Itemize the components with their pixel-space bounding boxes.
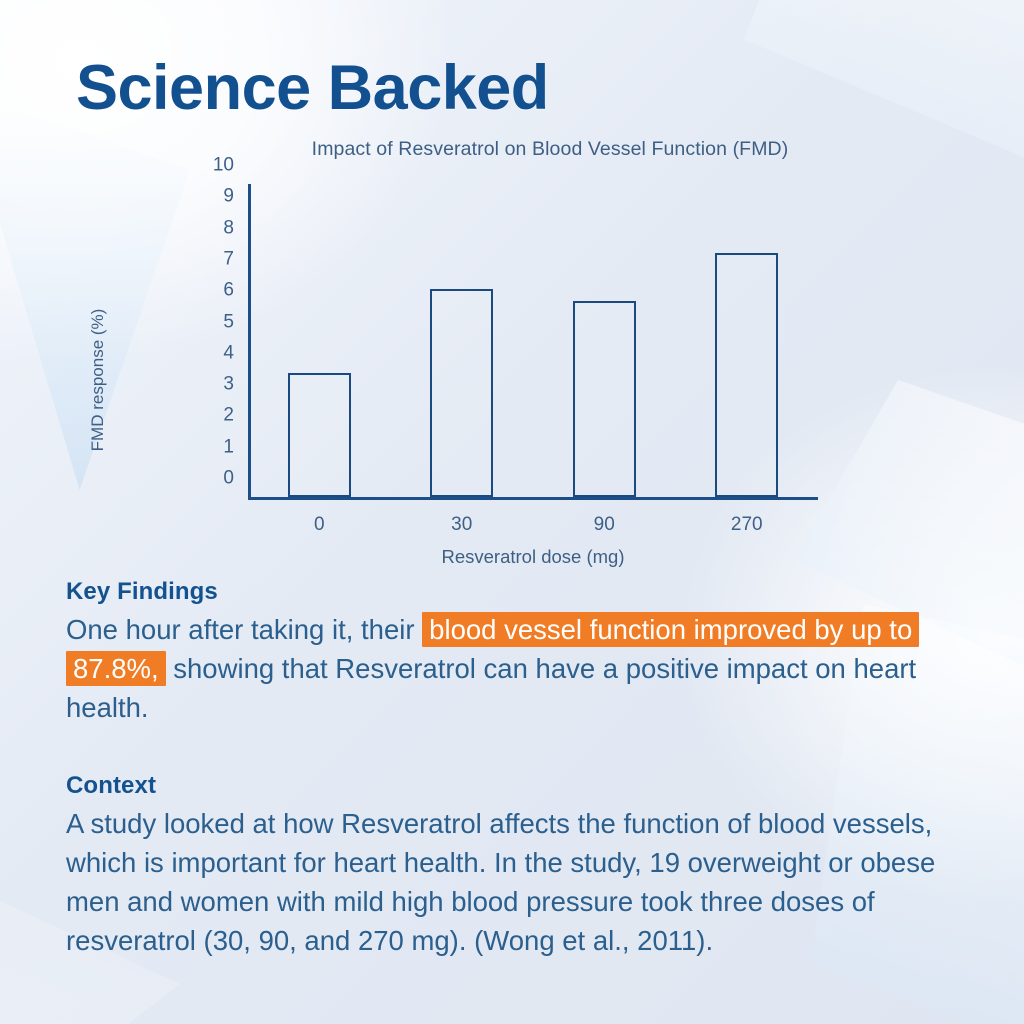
key-findings-heading: Key Findings — [66, 578, 996, 606]
chart-y-tick: 8 — [223, 218, 234, 237]
chart-title: Impact of Resveratrol on Blood Vessel Fu… — [250, 138, 850, 161]
chart-y-tick: 4 — [223, 343, 234, 362]
bar-chart: Impact of Resveratrol on Blood Vessel Fu… — [0, 138, 1024, 578]
chart-bar — [573, 301, 636, 497]
chart-y-tick: 5 — [223, 312, 234, 331]
chart-plot-area: 10987654321003090270 — [248, 184, 818, 500]
chart-x-tick: 270 — [731, 514, 763, 536]
chart-x-tick: 0 — [314, 514, 325, 536]
page-title: Science Backed — [76, 52, 549, 124]
key-findings-body: One hour after taking it, their blood ve… — [66, 610, 996, 727]
chart-x-axis-label: Resveratrol dose (mg) — [248, 546, 818, 568]
chart-y-tick: 0 — [223, 469, 234, 488]
chart-bar — [288, 373, 351, 497]
chart-y-tick: 6 — [223, 281, 234, 300]
poster-canvas: Science Backed Impact of Resveratrol on … — [0, 0, 1024, 1024]
chart-bar — [715, 253, 778, 497]
key-findings-text-before: One hour after taking it, their — [66, 614, 422, 645]
key-findings-text-after: showing that Resveratrol can have a posi… — [66, 653, 916, 723]
chart-y-axis-label: FMD response (%) — [88, 270, 108, 490]
chart-x-axis — [248, 497, 818, 500]
chart-y-tick: 7 — [223, 249, 234, 268]
chart-y-tick: 3 — [223, 375, 234, 394]
chart-x-tick: 30 — [451, 514, 472, 536]
key-findings-section: Key Findings One hour after taking it, t… — [66, 578, 996, 727]
chart-bar — [430, 289, 493, 497]
chart-y-tick: 10 — [213, 156, 234, 175]
chart-y-tick: 1 — [223, 437, 234, 456]
context-section: Context A study looked at how Resveratro… — [66, 772, 996, 960]
context-body: A study looked at how Resveratrol affect… — [66, 804, 996, 960]
chart-y-axis — [248, 184, 251, 500]
chart-x-tick: 90 — [594, 514, 615, 536]
chart-y-tick: 2 — [223, 406, 234, 425]
chart-y-tick: 9 — [223, 187, 234, 206]
context-heading: Context — [66, 772, 996, 800]
